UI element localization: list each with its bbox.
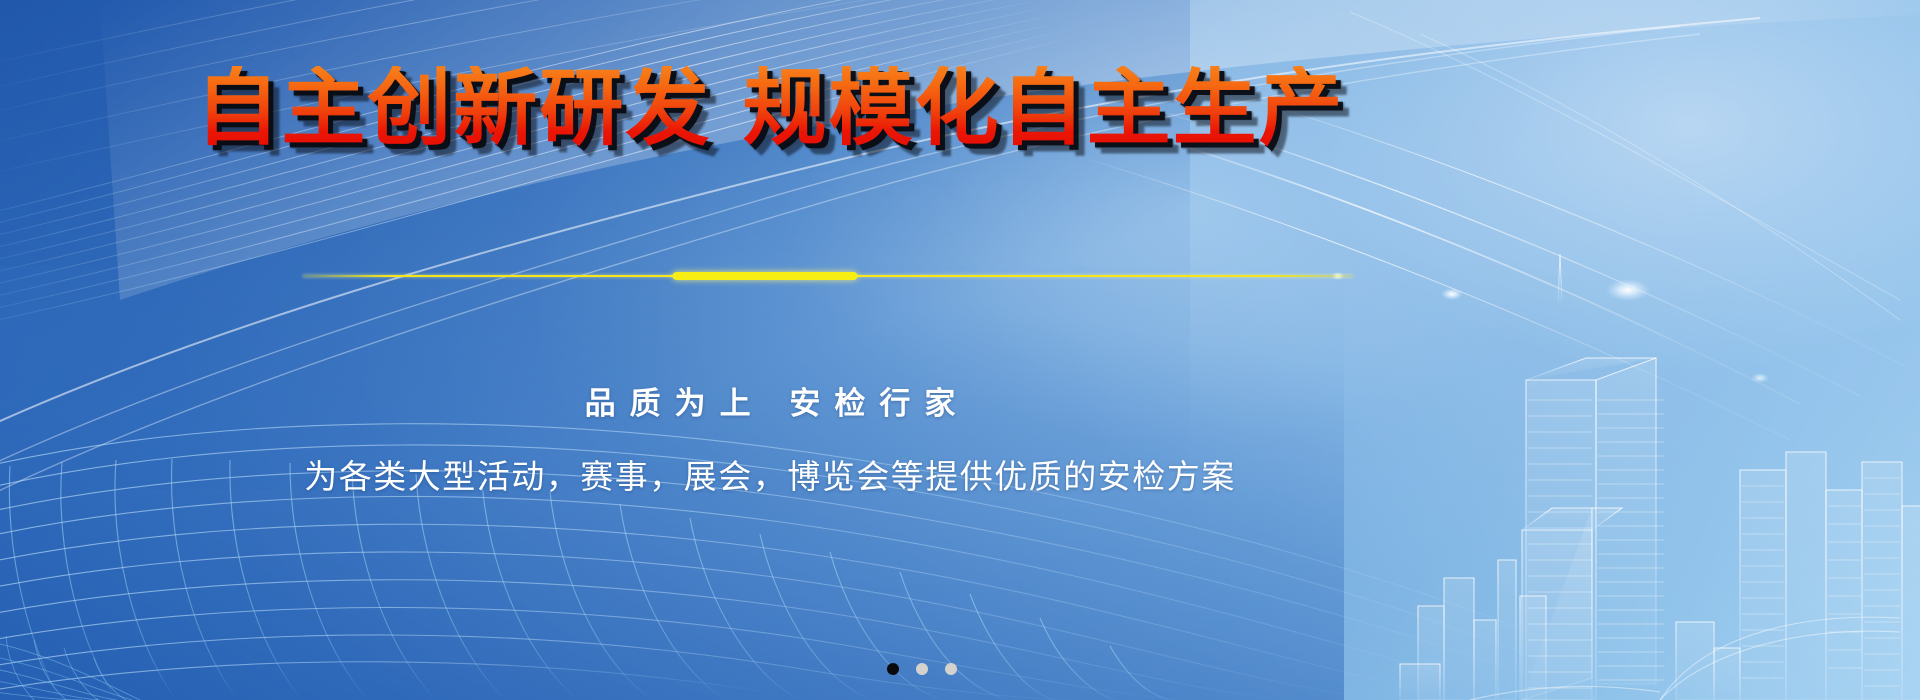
carousel-dot-2[interactable]: [916, 663, 928, 675]
carousel-dot-1[interactable]: [887, 663, 899, 675]
page-title: 自主创新研发 规模化自主生产: [195, 66, 1344, 150]
yellow-divider: [303, 271, 1353, 281]
subtitle-primary: 品质为上 安检行家: [0, 378, 1540, 423]
carousel-dot-3[interactable]: [945, 663, 957, 675]
divider-thick-accent: [673, 272, 858, 280]
hero-banner: 自主创新研发 规模化自主生产 品质为上 安检行家 为各类大型活动，赛事，展会，博…: [0, 0, 1920, 700]
banner-content: 自主创新研发 规模化自主生产 品质为上 安检行家 为各类大型活动，赛事，展会，博…: [0, 0, 1540, 700]
subtitle-secondary: 为各类大型活动，赛事，展会，博览会等提供优质的安检方案: [0, 450, 1540, 498]
headline-container: 自主创新研发 规模化自主生产: [0, 66, 1540, 150]
carousel-indicators: [0, 663, 1844, 675]
